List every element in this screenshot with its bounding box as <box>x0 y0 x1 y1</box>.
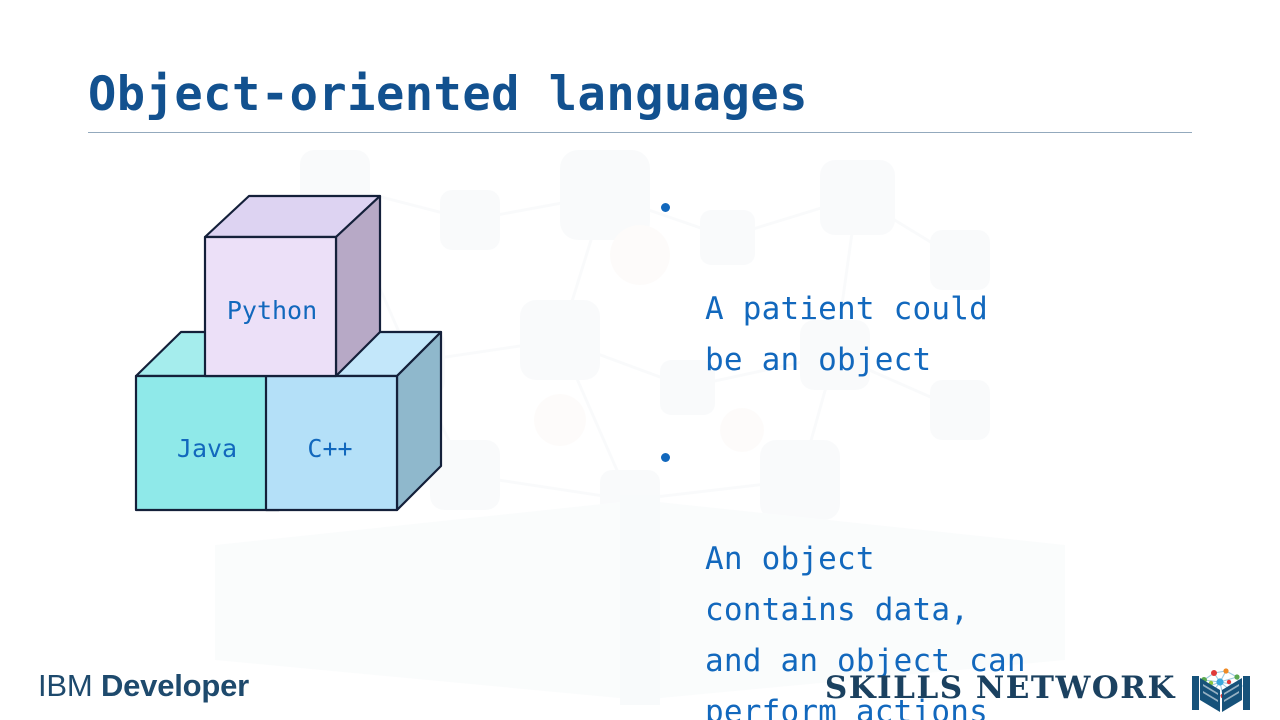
cube-python: Python <box>205 196 380 376</box>
ibm-developer-logo: IBM Developer <box>38 668 249 704</box>
skills-network-wordmark: SKILLS NETWORK <box>825 670 1176 706</box>
bullet-item-1-text: A patient could be an object <box>705 291 988 378</box>
open-book-network-icon <box>1190 662 1252 714</box>
title-underline-rule <box>88 132 1192 133</box>
stacked-cubes-diagram: Java C++ Python <box>120 180 470 530</box>
page-title: Object-oriented languages <box>88 68 1192 122</box>
cube-python-label: Python <box>227 296 317 325</box>
title-block: Object-oriented languages <box>88 68 1192 133</box>
bullet-dot-icon <box>661 453 670 462</box>
bullet-list: A patient could be an object An object c… <box>655 182 1215 720</box>
cube-cpp-label: C++ <box>307 434 352 463</box>
skills-network-logo: SKILLS NETWORK <box>825 662 1252 714</box>
slide-canvas: Object-oriented languages Java C++ <box>0 0 1280 720</box>
developer-wordmark: Developer <box>101 668 249 703</box>
ibm-wordmark: IBM <box>38 668 93 703</box>
cube-java-label: Java <box>177 434 237 463</box>
cubes-svg: Java C++ Python <box>120 180 470 530</box>
bullet-dot-icon <box>661 203 670 212</box>
bullet-item-1: A patient could be an object <box>655 182 1215 386</box>
